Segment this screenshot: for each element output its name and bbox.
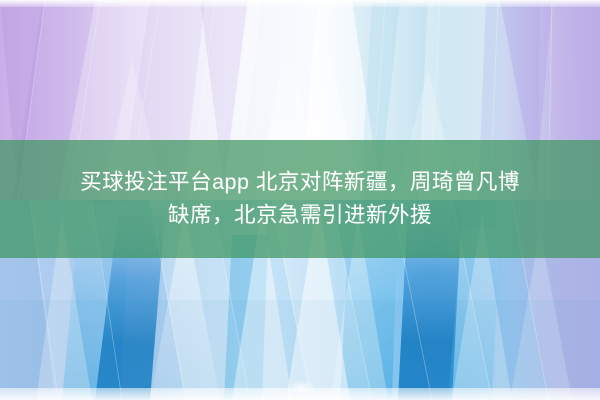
bottom-watermark bbox=[288, 381, 314, 392]
headline-text: 买球投注平台app 北京对阵新疆，周琦曾凡博 缺席，北京急需引进新外援 bbox=[80, 166, 520, 231]
top-edge-fade bbox=[0, 0, 600, 7]
article-banner: 买球投注平台app 北京对阵新疆，周琦曾凡博 缺席，北京急需引进新外援 bbox=[0, 0, 600, 400]
bottom-edge-fade bbox=[0, 388, 600, 400]
title-band: 买球投注平台app 北京对阵新疆，周琦曾凡博 缺席，北京急需引进新外援 bbox=[0, 140, 600, 258]
